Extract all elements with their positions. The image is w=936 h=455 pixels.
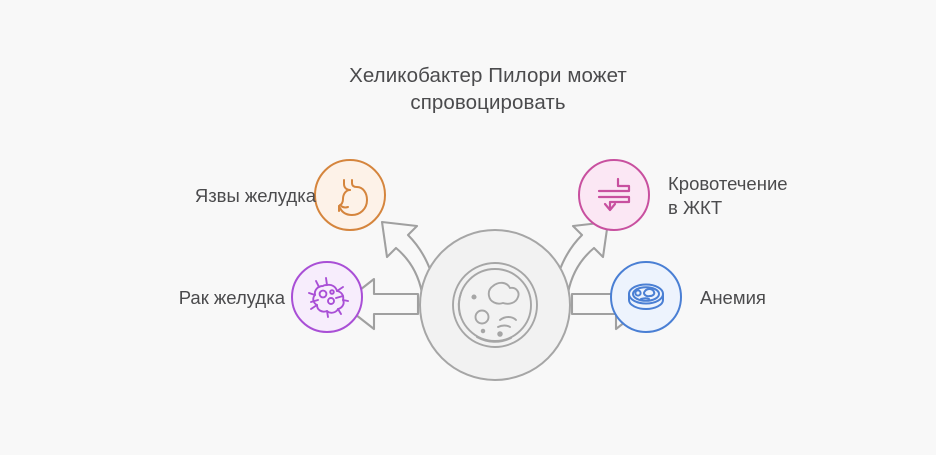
gi-bleeding-icon xyxy=(594,175,634,215)
page-title: Хеликобактер Пилори может спровоцировать xyxy=(268,62,708,116)
label-anemia: Анемия xyxy=(700,286,860,310)
hub-circle xyxy=(420,230,570,380)
label-cancer: Рак желудка xyxy=(140,286,285,310)
badge-ulcer[interactable] xyxy=(314,159,386,231)
label-bleeding: Кровотечение в ЖКТ xyxy=(668,172,858,220)
blood-cell-dish-icon xyxy=(624,275,668,319)
badge-bleeding[interactable] xyxy=(578,159,650,231)
badge-cancer[interactable] xyxy=(291,261,363,333)
badge-anemia[interactable] xyxy=(610,261,682,333)
infographic-canvas: Хеликобактер Пилори может спровоцировать xyxy=(0,0,936,455)
stomach-icon xyxy=(328,173,372,217)
cancer-cell-icon xyxy=(305,275,349,319)
label-ulcer: Язвы желудка xyxy=(166,184,316,208)
